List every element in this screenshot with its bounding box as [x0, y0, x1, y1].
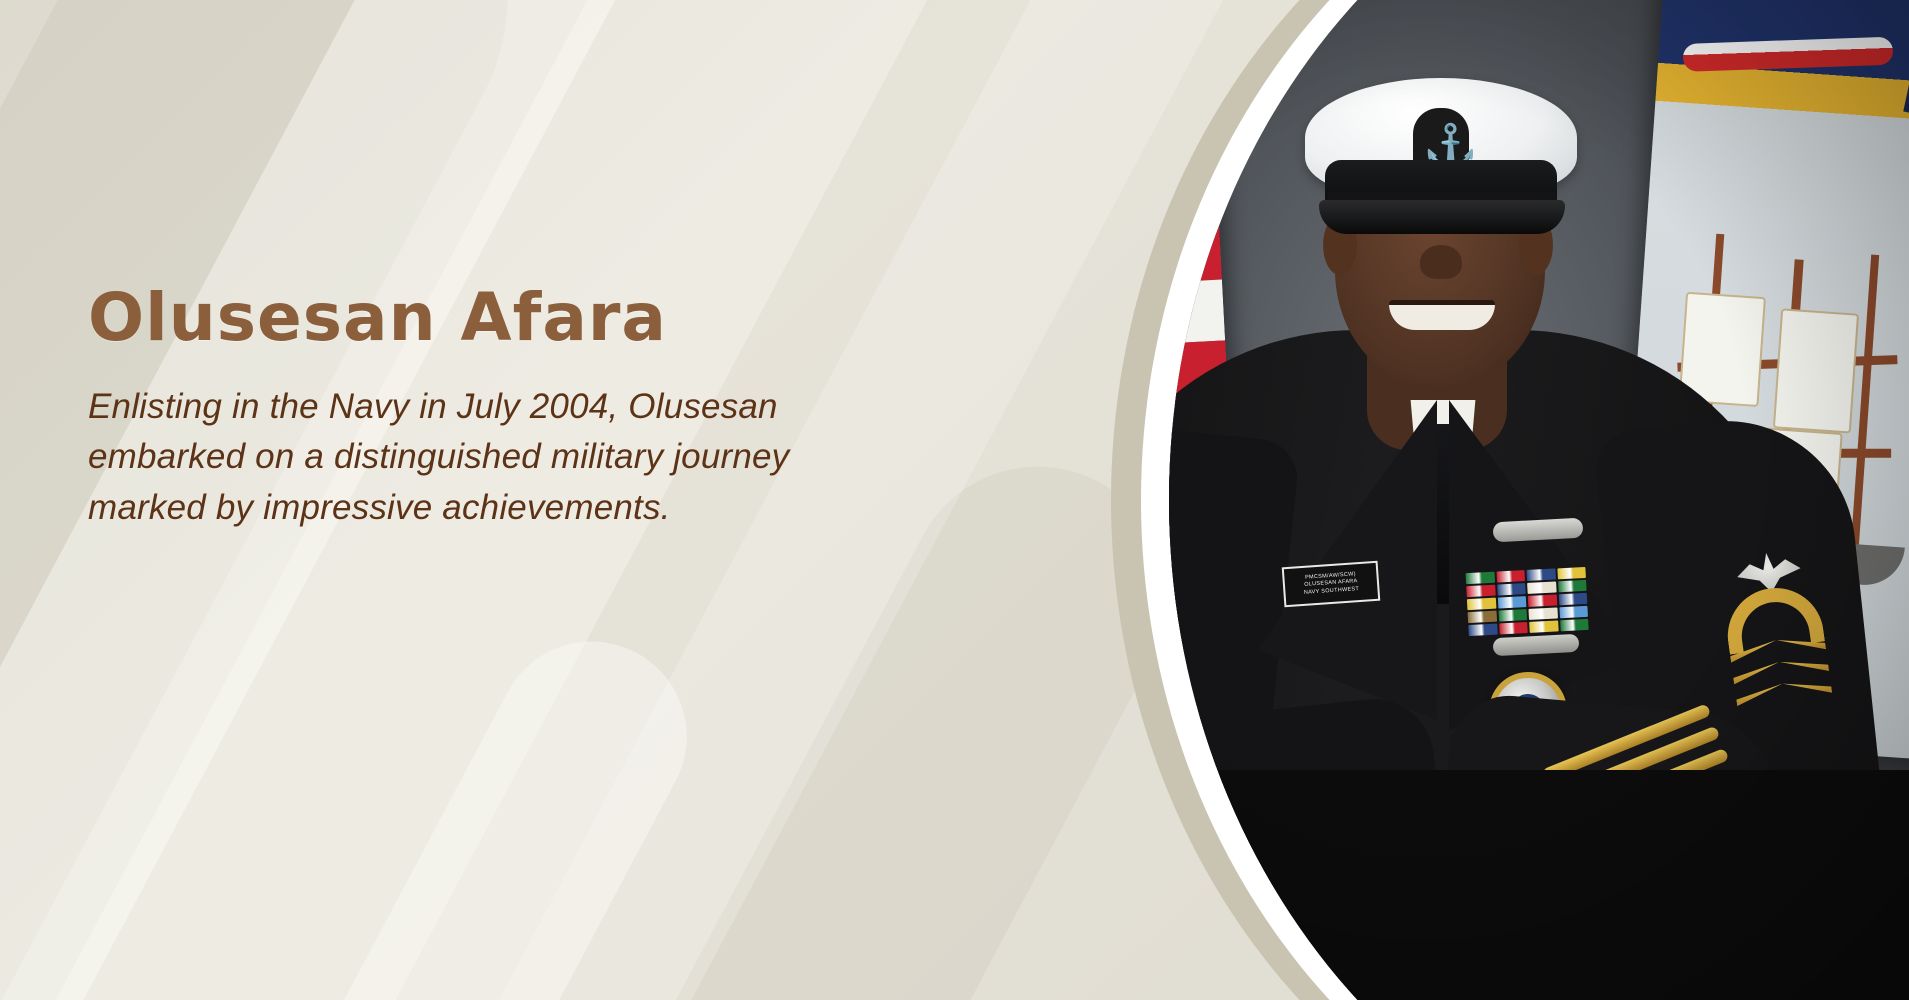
nose — [1420, 245, 1462, 279]
name-tag-line-3: NAVY SOUTHWEST — [1304, 587, 1360, 596]
flag-star-icon — [927, 52, 935, 81]
service-ribbon — [1526, 568, 1555, 580]
service-ribbon — [1497, 583, 1526, 595]
flag-star-icon — [1068, 252, 1097, 281]
flag-stripe — [927, 95, 1216, 174]
flag-star-icon — [1063, 148, 1092, 177]
flag-star-icon — [1020, 46, 1049, 75]
service-ribbon — [1557, 567, 1586, 579]
flag-star-icon — [1037, 0, 1066, 23]
service-ribbon — [1466, 585, 1495, 597]
mouth-smile — [1389, 300, 1495, 330]
flag-star-icon — [955, 258, 984, 287]
navy-cap-visor — [1319, 200, 1565, 234]
flag-star-icon — [972, 205, 1001, 234]
service-ribbon — [1468, 624, 1497, 636]
flag-canton — [927, 0, 1093, 319]
flag-star-icon — [1004, 99, 1033, 128]
flag-star-icon — [1048, 201, 1077, 230]
bio-line-3: marked by impressive achievements. — [88, 483, 898, 533]
flag-star-icon — [987, 152, 1016, 181]
flag-star-icon — [927, 156, 941, 185]
service-ribbon — [1528, 594, 1557, 606]
portrait-photo: ⚓ PMCSM/AW/SCW) OLUSESAN AFARA NAVY SOUT… — [927, 0, 1909, 1000]
person-bio-text: Enlisting in the Navy in July 2004, Olus… — [88, 382, 898, 533]
table-surface — [1037, 770, 1909, 1000]
portrait-panel: ⚓ PMCSM/AW/SCW) OLUSESAN AFARA NAVY SOUT… — [909, 0, 1909, 1000]
flag-star-icon — [934, 207, 963, 236]
profile-banner: Olusesan Afara Enlisting in the Navy in … — [0, 0, 1909, 1000]
flag-star-icon — [1042, 97, 1071, 126]
bio-line-1: Enlisting in the Navy in July 2004, Olus… — [88, 382, 898, 432]
service-ribbon — [1468, 611, 1497, 623]
flag-stripe — [927, 0, 1209, 51]
flag-star-icon — [999, 0, 1028, 25]
rank-chevron-2 — [1732, 655, 1829, 684]
flag-star-icon — [1025, 150, 1054, 179]
person-figure: ⚓ PMCSM/AW/SCW) OLUSESAN AFARA NAVY SOUT… — [927, 0, 1909, 1000]
service-ribbon — [1559, 606, 1588, 618]
service-ribbon — [1528, 607, 1557, 619]
bio-line-2: embarked on a distinguished military jou… — [88, 432, 898, 482]
service-ribbon — [1529, 620, 1558, 632]
service-ribbon — [1527, 581, 1556, 593]
service-ribbon — [1497, 596, 1526, 608]
flag-star-icon — [1030, 254, 1059, 283]
service-ribbon — [1560, 619, 1589, 631]
flag-star-icon — [928, 103, 957, 132]
service-ribbon — [1466, 572, 1495, 584]
flag-stripe — [927, 33, 1212, 112]
flag-star-icon — [944, 50, 973, 79]
flag-star-icon — [927, 260, 946, 289]
service-ribbon — [1558, 593, 1587, 605]
flag-star-icon — [1010, 203, 1039, 232]
person-name-title: Olusesan Afara — [88, 280, 898, 356]
uniform-name-tag: PMCSM/AW/SCW) OLUSESAN AFARA NAVY SOUTHW… — [1282, 561, 1381, 608]
flag-star-icon — [992, 256, 1021, 285]
service-ribbon — [1499, 622, 1528, 634]
text-block: Olusesan Afara Enlisting in the Navy in … — [88, 280, 898, 533]
service-ribbon — [1496, 570, 1525, 582]
flag-star-icon — [961, 0, 990, 27]
sleeve-rank-insignia — [1704, 528, 1845, 703]
flag-star-icon — [982, 48, 1011, 77]
service-ribbon — [1558, 580, 1587, 592]
service-ribbon — [1498, 609, 1527, 621]
flag-star-icon — [966, 101, 995, 130]
flag-star-icon — [949, 154, 978, 183]
flag-star-icon — [927, 0, 952, 29]
service-ribbon-rack — [1466, 567, 1589, 633]
service-ribbon — [1467, 598, 1496, 610]
flag-star-icon — [1058, 44, 1087, 73]
